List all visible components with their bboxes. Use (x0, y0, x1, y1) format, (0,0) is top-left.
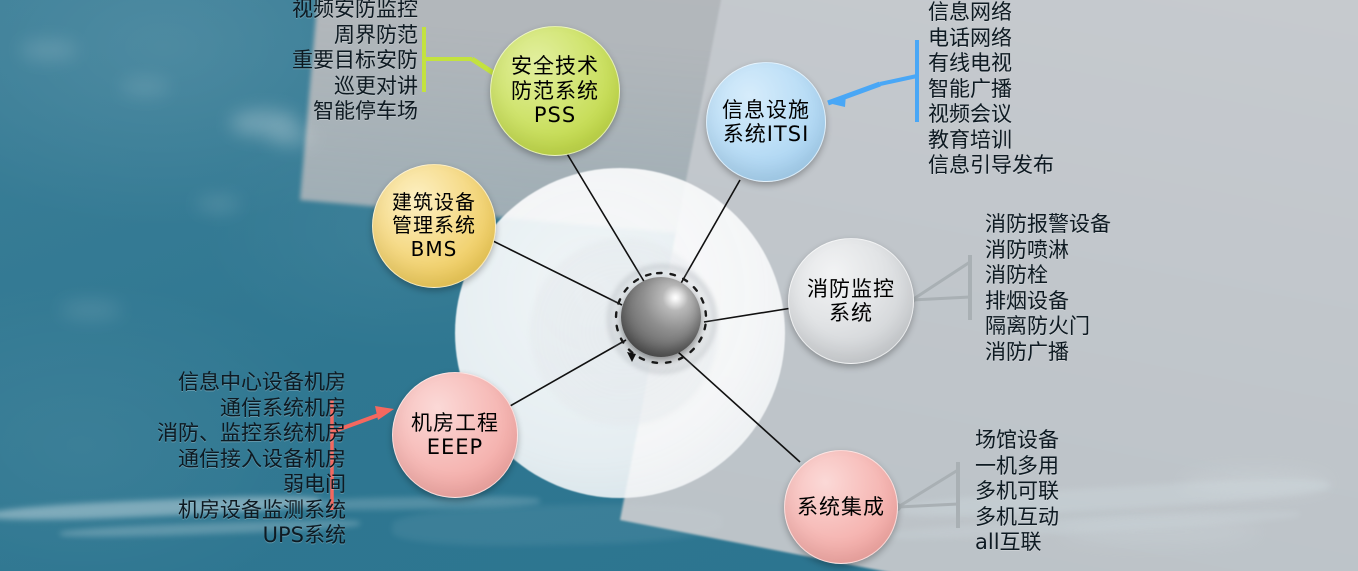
list-item: 隔离防火门 (985, 314, 1111, 340)
list-item: 重要目标安防 (292, 48, 418, 74)
list-item: 消防喷淋 (985, 238, 1111, 264)
list-item: all互联 (975, 530, 1059, 556)
spoke-to-eeep (503, 340, 626, 410)
node-fire-line-0: 消防监控 (807, 277, 895, 301)
list-item: 有线电视 (928, 51, 1054, 77)
list-item: 智能停车场 (292, 99, 418, 125)
node-pss-line-1: 防范系统 (511, 79, 599, 103)
list-item: 多机可联 (975, 479, 1059, 505)
list-item: 信息中心设备机房 (157, 370, 346, 396)
list-item: 智能广播 (928, 77, 1054, 103)
node-eeep[interactable]: 机房工程 EEEP (392, 372, 518, 498)
list-item: 消防广播 (985, 340, 1111, 366)
bracket-si (894, 462, 958, 528)
list-item: 通信接入设备机房 (157, 447, 346, 473)
bracket-itsi (828, 40, 917, 122)
bracket-pss (424, 27, 498, 92)
list-item: 消防栓 (985, 263, 1111, 289)
core-sphere (621, 277, 701, 357)
diagram-canvas: 安全技术 防范系统 PSS 信息设施 系统ITSI 建筑设备 管理系统 BMS … (0, 0, 1358, 571)
node-bms-line-2: BMS (411, 238, 458, 261)
spoke-to-si (678, 352, 800, 462)
node-eeep-line-0: 机房工程 (411, 411, 499, 435)
list-item: 场馆设备 (975, 428, 1059, 454)
list-item: 一机多用 (975, 454, 1059, 480)
node-itsi-line-0: 信息设施 (722, 98, 810, 122)
node-bms-line-1: 管理系统 (392, 214, 476, 237)
list-item: 通信系统机房 (157, 396, 346, 422)
list-item: 排烟设备 (985, 289, 1111, 315)
list-system-integration: 场馆设备 一机多用 多机可联 多机互动 all互联 (975, 428, 1059, 556)
node-pss[interactable]: 安全技术 防范系统 PSS (490, 26, 620, 156)
node-itsi[interactable]: 信息设施 系统ITSI (706, 62, 826, 182)
bracket-fire (908, 255, 970, 320)
list-item: 消防报警设备 (985, 212, 1111, 238)
list-item: 教育培训 (928, 128, 1054, 154)
list-item: 电话网络 (928, 26, 1054, 52)
list-item: 视频会议 (928, 102, 1054, 128)
list-item: 视频安防监控 (292, 0, 418, 23)
list-item: 机房设备监测系统 (157, 498, 346, 524)
node-system-integration[interactable]: 系统集成 (784, 450, 898, 564)
node-eeep-line-1: EEEP (427, 435, 483, 459)
list-itsi: 信息网络 电话网络 有线电视 智能广播 视频会议 教育培训 信息引导发布 (928, 0, 1054, 179)
list-item: 周界防范 (292, 23, 418, 49)
list-fire: 消防报警设备 消防喷淋 消防栓 排烟设备 隔离防火门 消防广播 (985, 212, 1111, 365)
list-item: 消防、监控系统机房 (157, 421, 346, 447)
list-item: UPS系统 (157, 523, 346, 549)
list-pss: 视频安防监控 周界防范 重要目标安防 巡更对讲 智能停车场 (292, 0, 418, 125)
list-item: 多机互动 (975, 505, 1059, 531)
node-fire-line-1: 系统 (829, 301, 873, 325)
node-pss-line-2: PSS (534, 103, 576, 127)
node-fire[interactable]: 消防监控 系统 (788, 238, 914, 364)
list-item: 弱电间 (157, 472, 346, 498)
node-si-line-0: 系统集成 (797, 495, 885, 519)
list-eeep: 信息中心设备机房 通信系统机房 消防、监控系统机房 通信接入设备机房 弱电间 机… (157, 370, 346, 549)
node-bms-line-0: 建筑设备 (392, 191, 476, 214)
spoke-to-fire (704, 308, 792, 322)
list-item: 信息网络 (928, 0, 1054, 26)
node-bms[interactable]: 建筑设备 管理系统 BMS (372, 164, 496, 288)
node-pss-line-0: 安全技术 (511, 54, 599, 78)
spoke-to-bms (487, 238, 622, 305)
list-item: 信息引导发布 (928, 153, 1054, 179)
list-item: 巡更对讲 (292, 74, 418, 100)
node-itsi-line-1: 系统ITSI (723, 122, 810, 146)
